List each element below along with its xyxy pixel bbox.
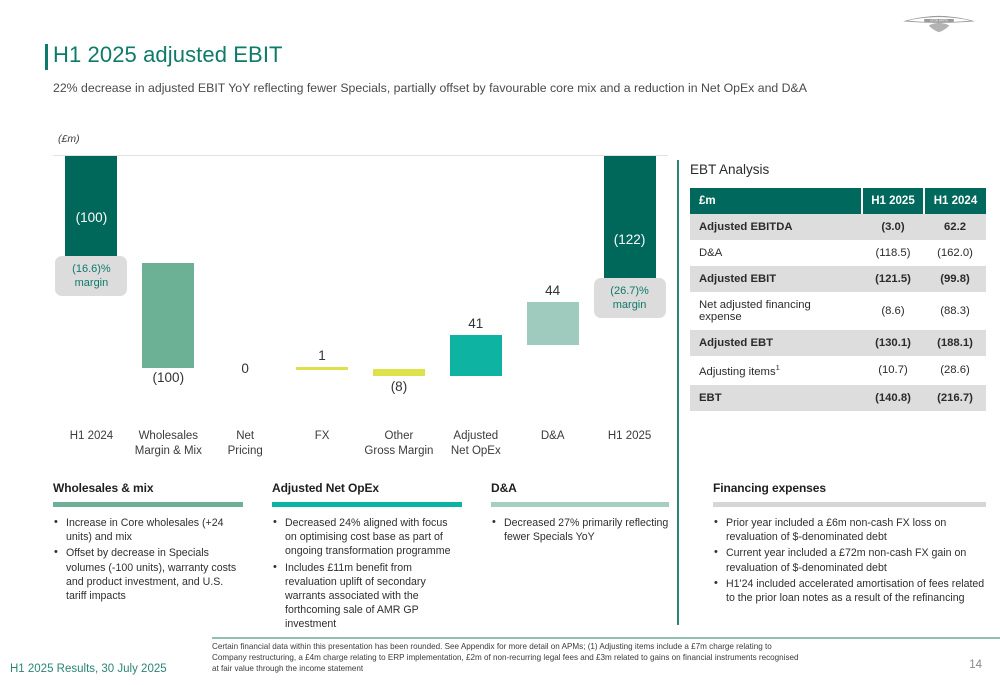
- ebt-analysis-title: EBT Analysis: [690, 162, 986, 177]
- table-cell-h1-2025: (121.5): [862, 266, 924, 292]
- chart-bar-d-a: [527, 302, 579, 345]
- table-cell-label: D&A: [690, 240, 862, 266]
- title-accent-bar: [45, 44, 48, 70]
- chart-value-label-1: (100): [130, 370, 207, 385]
- table-cell-h1-2024: (162.0): [924, 240, 986, 266]
- note-rule: [272, 502, 462, 507]
- chart-x-label-5: AdjustedNet OpEx: [437, 429, 514, 459]
- table-cell-label: Adjusting items1: [690, 356, 862, 385]
- chart-x-label-6: D&A: [514, 429, 591, 444]
- table-row: D&A(118.5)(162.0): [690, 240, 986, 266]
- table-row: Net adjusted financing expense(8.6)(88.3…: [690, 292, 986, 330]
- table-row: EBT(140.8)(216.7): [690, 385, 986, 411]
- note-column-da: D&ADecreased 27% primarily reflecting fe…: [491, 481, 669, 546]
- chart-value-label-6: 44: [514, 283, 591, 298]
- chart-x-label-2-line1: Pricing: [207, 444, 284, 459]
- note-column-financing-expenses: Financing expensesPrior year included a …: [713, 481, 986, 607]
- list-item: Decreased 27% primarily reflecting fewer…: [491, 516, 669, 544]
- chart-x-label-3-line0: FX: [284, 429, 361, 444]
- chart-x-label-4: OtherGross Margin: [361, 429, 438, 459]
- table-body: Adjusted EBITDA(3.0)62.2D&A(118.5)(162.0…: [690, 214, 986, 411]
- chart-x-label-4-line0: Other: [361, 429, 438, 444]
- h1-2025-margin-line2: margin: [601, 298, 659, 312]
- table-cell-label: Adjusted EBITDA: [690, 214, 862, 240]
- chart-x-label-0: H1 2024: [53, 429, 130, 444]
- note-rule: [491, 502, 669, 507]
- chart-x-label-6-line0: D&A: [514, 429, 591, 444]
- chart-x-label-5-line1: Net OpEx: [437, 444, 514, 459]
- list-item: Increase in Core wholesales (+24 units) …: [53, 516, 243, 544]
- chart-bar-adjusted-net-opex: [450, 335, 502, 376]
- table-cell-label: EBT: [690, 385, 862, 411]
- footer-deck-label: H1 2025 Results, 30 July 2025: [10, 663, 167, 675]
- table-column-header-1: H1 2025: [862, 188, 924, 214]
- h1-2024-margin-line2: margin: [62, 276, 120, 290]
- table-cell-label: Net adjusted financing expense: [690, 292, 862, 330]
- chart-x-label-7: H1 2025: [591, 429, 668, 444]
- table-cell-h1-2025: (130.1): [862, 330, 924, 356]
- h1-2024-margin-line1: (16.6)%: [62, 262, 120, 276]
- panel-divider: [677, 160, 679, 625]
- note-column-wholesales: Wholesales & mixIncrease in Core wholesa…: [53, 481, 243, 605]
- table-cell-h1-2025: (118.5): [862, 240, 924, 266]
- table-column-header-0: £m: [690, 188, 862, 214]
- h1-2025-margin-line1: (26.7)%: [601, 284, 659, 298]
- page-number: 14: [969, 659, 982, 671]
- h1-2025-margin: (26.7)%margin: [594, 278, 666, 318]
- table-cell-label: Adjusted EBIT: [690, 266, 862, 292]
- chart-bar-h1-2025: [604, 156, 656, 278]
- chart-value-label-7: (122): [591, 232, 668, 247]
- table-cell-h1-2024: (188.1): [924, 330, 986, 356]
- table-row: Adjusted EBIT(121.5)(99.8): [690, 266, 986, 292]
- note-rule: [53, 502, 243, 507]
- note-bullet-list: Prior year included a £6m non-cash FX lo…: [713, 516, 986, 605]
- table-cell-h1-2024: (28.6): [924, 356, 986, 385]
- table-cell-label: Adjusted EBT: [690, 330, 862, 356]
- chart-value-label-4: (8): [361, 379, 438, 394]
- list-item: Prior year included a £6m non-cash FX lo…: [713, 516, 986, 544]
- chart-x-label-1-line1: Margin & Mix: [130, 444, 207, 459]
- footer-rule: [212, 637, 1000, 639]
- note-rule: [713, 502, 986, 507]
- chart-value-label-2: 0: [207, 361, 284, 376]
- note-heading: Adjusted Net OpEx: [272, 481, 462, 495]
- table-column-header-2: H1 2024: [924, 188, 986, 214]
- table-header-row: £mH1 2025H1 2024: [690, 188, 986, 214]
- note-bullet-list: Increase in Core wholesales (+24 units) …: [53, 516, 243, 603]
- chart-bar-fx: [296, 367, 348, 370]
- chart-bar-other-gross-margin: [373, 369, 425, 376]
- note-heading: D&A: [491, 481, 669, 495]
- table-row: Adjusted EBITDA(3.0)62.2: [690, 214, 986, 240]
- note-heading: Financing expenses: [713, 481, 986, 495]
- table-cell-h1-2024: 62.2: [924, 214, 986, 240]
- list-item: Offset by decrease in Specials volumes (…: [53, 546, 243, 603]
- list-item: Decreased 24% aligned with focus on opti…: [272, 516, 462, 559]
- list-item: Current year included a £72m non-cash FX…: [713, 546, 986, 574]
- table-cell-h1-2024: (99.8): [924, 266, 986, 292]
- ebt-analysis-table: £mH1 2025H1 2024 Adjusted EBITDA(3.0)62.…: [690, 188, 986, 411]
- note-bullet-list: Decreased 24% aligned with focus on opti…: [272, 516, 462, 632]
- chart-x-label-2-line0: Net: [207, 429, 284, 444]
- chart-x-label-3: FX: [284, 429, 361, 444]
- ebt-analysis-panel: EBT Analysis £mH1 2025H1 2024 Adjusted E…: [690, 162, 986, 411]
- ebit-waterfall-chart: (£m) (100)(100)01(8)4144(122)(16.6)%marg…: [53, 133, 668, 468]
- note-bullet-list: Decreased 27% primarily reflecting fewer…: [491, 516, 669, 544]
- chart-x-label-7-line0: H1 2025: [591, 429, 668, 444]
- chart-x-label-1: WholesalesMargin & Mix: [130, 429, 207, 459]
- chart-bar-wholesales-margin-mix: [142, 263, 194, 368]
- footnote-marker: 1: [776, 363, 780, 372]
- chart-x-label-2: NetPricing: [207, 429, 284, 459]
- table-cell-h1-2025: (8.6): [862, 292, 924, 330]
- chart-bar-h1-2024: [65, 156, 117, 256]
- chart-x-label-0-line0: H1 2024: [53, 429, 130, 444]
- chart-x-label-5-line0: Adjusted: [437, 429, 514, 444]
- h1-2024-margin: (16.6)%margin: [55, 256, 127, 296]
- chart-x-label-4-line1: Gross Margin: [361, 444, 438, 459]
- footnote-text: Certain financial data within this prese…: [212, 641, 802, 675]
- chart-x-label-1-line0: Wholesales: [130, 429, 207, 444]
- page-title: H1 2025 adjusted EBIT: [53, 42, 283, 68]
- table-cell-h1-2024: (216.7): [924, 385, 986, 411]
- table-cell-h1-2024: (88.3): [924, 292, 986, 330]
- note-heading: Wholesales & mix: [53, 481, 243, 495]
- aston-martin-wings-logo: ASTON MARTIN: [900, 8, 978, 34]
- table-row: Adjusting items1(10.7)(28.6): [690, 356, 986, 385]
- list-item: Includes £11m benefit from revaluation u…: [272, 561, 462, 632]
- table-cell-h1-2025: (10.7): [862, 356, 924, 385]
- list-item: H1'24 included accelerated amortisation …: [713, 577, 986, 605]
- chart-unit-label: (£m): [58, 133, 80, 145]
- page-subtitle: 22% decrease in adjusted EBIT YoY reflec…: [53, 81, 807, 95]
- chart-value-label-0: (100): [53, 210, 130, 225]
- table-row: Adjusted EBT(130.1)(188.1): [690, 330, 986, 356]
- table-cell-h1-2025: (140.8): [862, 385, 924, 411]
- chart-value-label-5: 41: [437, 316, 514, 331]
- chart-plot-area: (100)(100)01(8)4144(122)(16.6)%margin(26…: [53, 155, 668, 420]
- note-column-adjusted-net-opex: Adjusted Net OpExDecreased 24% aligned w…: [272, 481, 462, 634]
- table-cell-h1-2025: (3.0): [862, 214, 924, 240]
- chart-value-label-3: 1: [284, 348, 361, 363]
